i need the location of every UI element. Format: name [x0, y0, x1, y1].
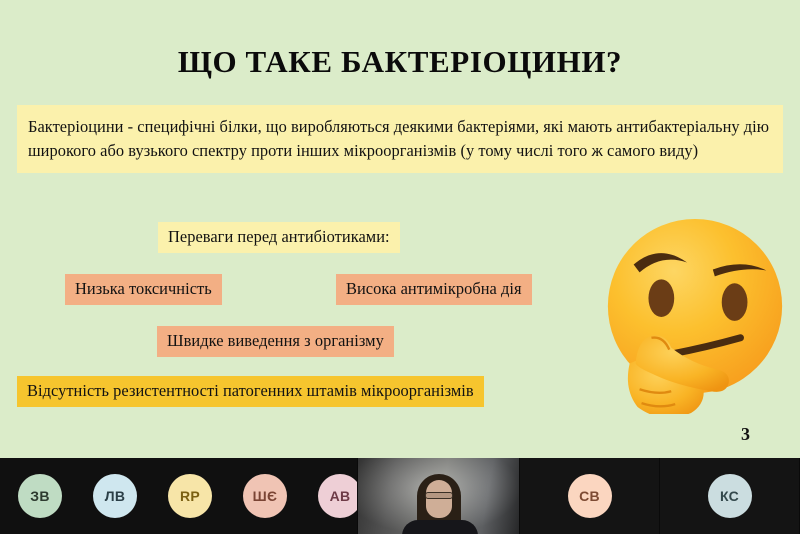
- webcam-feed: [358, 458, 519, 534]
- avatar-initials: КС: [720, 488, 739, 504]
- avatar-initials: ЗВ: [30, 488, 49, 504]
- video-participant-strip: ЗВ ЛВ RP ШЄ АВ: [0, 458, 800, 534]
- slide-canvas: ЩО ТАКЕ БАКТЕРІОЦИНИ? Бактеріоцини - спе…: [0, 0, 800, 458]
- person-torso: [402, 520, 478, 534]
- avatar-initials: ШЄ: [253, 488, 278, 504]
- participant-video-tile[interactable]: [358, 458, 520, 534]
- thinking-face-emoji: [596, 214, 794, 414]
- avatar-initials: ЛВ: [105, 488, 126, 504]
- avatar-initials: СВ: [579, 488, 600, 504]
- person-face: [426, 480, 452, 518]
- chip-low-toxicity: Низька токсичність: [65, 274, 222, 305]
- chip-fast-elimination: Швидке виведення з організму: [157, 326, 394, 357]
- chip-high-antimicrobial-action: Висока антимікробна дія: [336, 274, 532, 305]
- avatar-initials: RP: [180, 488, 200, 504]
- slide-title: ЩО ТАКЕ БАКТЕРІОЦИНИ?: [0, 44, 800, 80]
- avatar-participant-5[interactable]: АВ: [318, 474, 358, 518]
- avatar-participant-4[interactable]: ШЄ: [243, 474, 287, 518]
- avatar-participant-1[interactable]: ЗВ: [18, 474, 62, 518]
- chip-no-resistance: Відсутність резистентності патогенних шт…: [17, 376, 484, 407]
- person-glasses: [425, 492, 453, 499]
- presentation-screen-share-view: ЩО ТАКЕ БАКТЕРІОЦИНИ? Бактеріоцини - спе…: [0, 0, 800, 534]
- participant-tile-7[interactable]: КС: [660, 458, 800, 534]
- avatar-participant-2[interactable]: ЛВ: [93, 474, 137, 518]
- avatar-initials: АВ: [330, 488, 351, 504]
- slide-page-number: 3: [741, 424, 750, 445]
- avatar-participant-6[interactable]: СВ: [568, 474, 612, 518]
- avatar-participant-7[interactable]: КС: [708, 474, 752, 518]
- participant-tile-group[interactable]: ЗВ ЛВ RP ШЄ АВ: [0, 458, 358, 534]
- participant-tile-6[interactable]: СВ: [520, 458, 660, 534]
- definition-text-box: Бактеріоцини - специфічні білки, що виро…: [17, 105, 783, 173]
- chip-advantages-heading: Переваги перед антибіотиками:: [158, 222, 400, 253]
- avatar-participant-3[interactable]: RP: [168, 474, 212, 518]
